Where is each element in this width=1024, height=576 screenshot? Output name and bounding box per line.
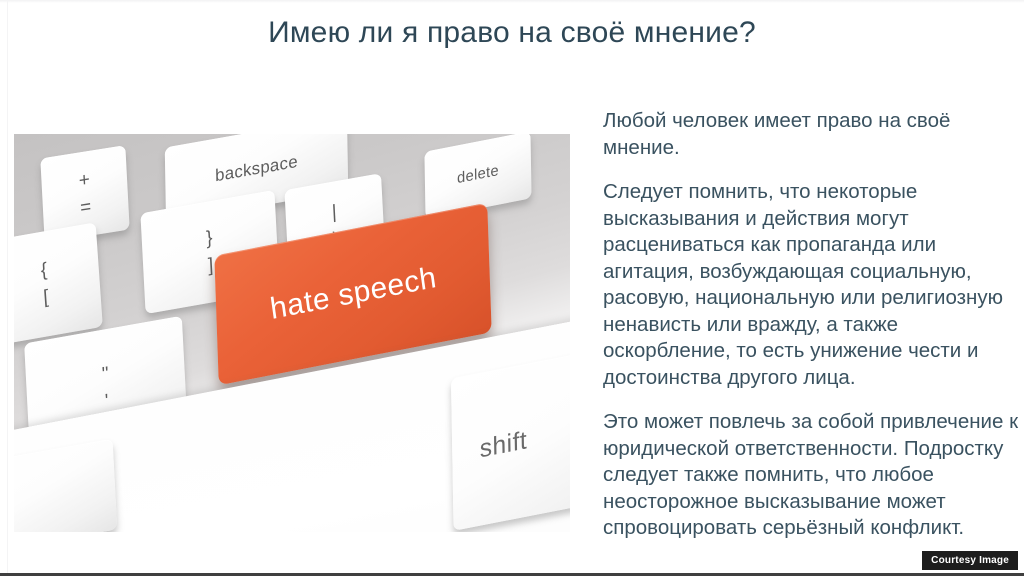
slide-body-text: Любой человек имеет право на своё мнение… <box>603 108 1024 542</box>
quote-key-top-label: " <box>101 364 109 385</box>
body-paragraph-2: Следует помнить, что некоторые высказыва… <box>603 179 1024 391</box>
slide-title: Имею ли я право на своё мнение? <box>0 16 1024 50</box>
body-paragraph-3: Это может повлечь за собой привлечение к… <box>603 409 1024 542</box>
hate-speech-keyboard-photo: + = backspace delete | \ } ] <box>14 134 570 532</box>
lower-left-key <box>14 439 117 532</box>
backspace-key-label: backspace <box>215 153 298 186</box>
close-brace-key-bottom-label: ] <box>207 255 214 276</box>
courtesy-image-watermark: Courtesy Image <box>922 551 1018 570</box>
pipe-key-top-label: | <box>331 202 337 223</box>
shift-key-label: shift <box>480 427 528 463</box>
delete-key-label: delete <box>457 163 499 187</box>
slide-top-edge <box>0 0 1024 3</box>
close-brace-key-top-label: } <box>206 228 213 249</box>
plus-key-bottom-label: = <box>80 197 92 219</box>
hate-speech-key-label: hate speech <box>268 261 439 327</box>
open-brace-bracket-key: { [ <box>14 222 103 345</box>
open-brace-key-top-label: { <box>40 260 48 281</box>
keyboard-chassis: + = backspace delete | \ } ] <box>14 134 570 532</box>
quote-key-bottom-label: ' <box>103 391 111 412</box>
body-paragraph-1: Любой человек имеет право на своё мнение… <box>603 108 1024 161</box>
plus-key-top-label: + <box>78 170 90 192</box>
presentation-slide: Имею ли я право на своё мнение? + = back… <box>0 0 1024 576</box>
open-brace-key-bottom-label: [ <box>42 287 50 308</box>
slide-left-edge <box>7 0 8 576</box>
